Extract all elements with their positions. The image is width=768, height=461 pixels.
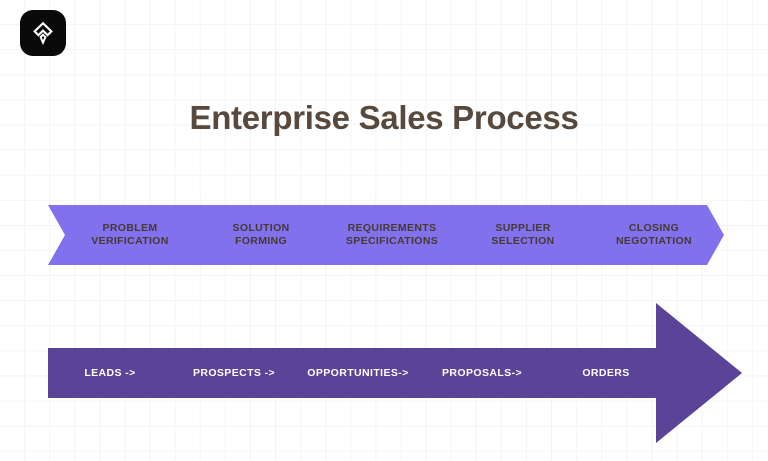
app-logo[interactable] [20, 10, 66, 56]
slide-canvas: Enterprise Sales Process PROBLEM VERIFIC… [0, 0, 768, 461]
stage-label-line2: SELECTION [491, 235, 554, 249]
diamond-mark-logo-icon [30, 20, 56, 46]
stage-chevron-5[interactable]: CLOSING NEGOTIATION [572, 205, 724, 265]
pipeline-label-row: LEADS -> PROSPECTS -> OPPORTUNITIES-> PR… [48, 348, 668, 398]
stage-chevron-2[interactable]: SOLUTION FORMING [179, 205, 331, 265]
pipeline-arrow: LEADS -> PROSPECTS -> OPPORTUNITIES-> PR… [48, 303, 742, 443]
pipeline-stage-proposals[interactable]: PROPOSALS-> [420, 367, 544, 379]
stage-label-line2: VERIFICATION [91, 235, 169, 249]
pipeline-stage-opportunities[interactable]: OPPORTUNITIES-> [296, 367, 420, 379]
stage-chevron-1[interactable]: PROBLEM VERIFICATION [48, 205, 200, 265]
pipeline-stage-orders[interactable]: ORDERS [544, 367, 668, 379]
stage-label-line1: PROBLEM [91, 222, 169, 236]
page-title: Enterprise Sales Process [0, 99, 768, 137]
stage-chevron-band: PROBLEM VERIFICATION SOLUTION FORMING RE… [48, 205, 722, 265]
stage-label-line1: CLOSING [616, 222, 692, 236]
stage-chevron-4[interactable]: SUPPLIER SELECTION [441, 205, 593, 265]
pipeline-stage-leads[interactable]: LEADS -> [48, 367, 172, 379]
pipeline-stage-prospects[interactable]: PROSPECTS -> [172, 367, 296, 379]
stage-label-line2: NEGOTIATION [616, 235, 692, 249]
stage-label-line1: SUPPLIER [491, 222, 554, 236]
stage-label-line2: SPECIFICATIONS [346, 235, 438, 249]
stage-label-line2: FORMING [232, 235, 289, 249]
stage-label-line1: REQUIREMENTS [346, 222, 438, 236]
stage-chevron-3[interactable]: REQUIREMENTS SPECIFICATIONS [310, 205, 462, 265]
stage-label-line1: SOLUTION [232, 222, 289, 236]
